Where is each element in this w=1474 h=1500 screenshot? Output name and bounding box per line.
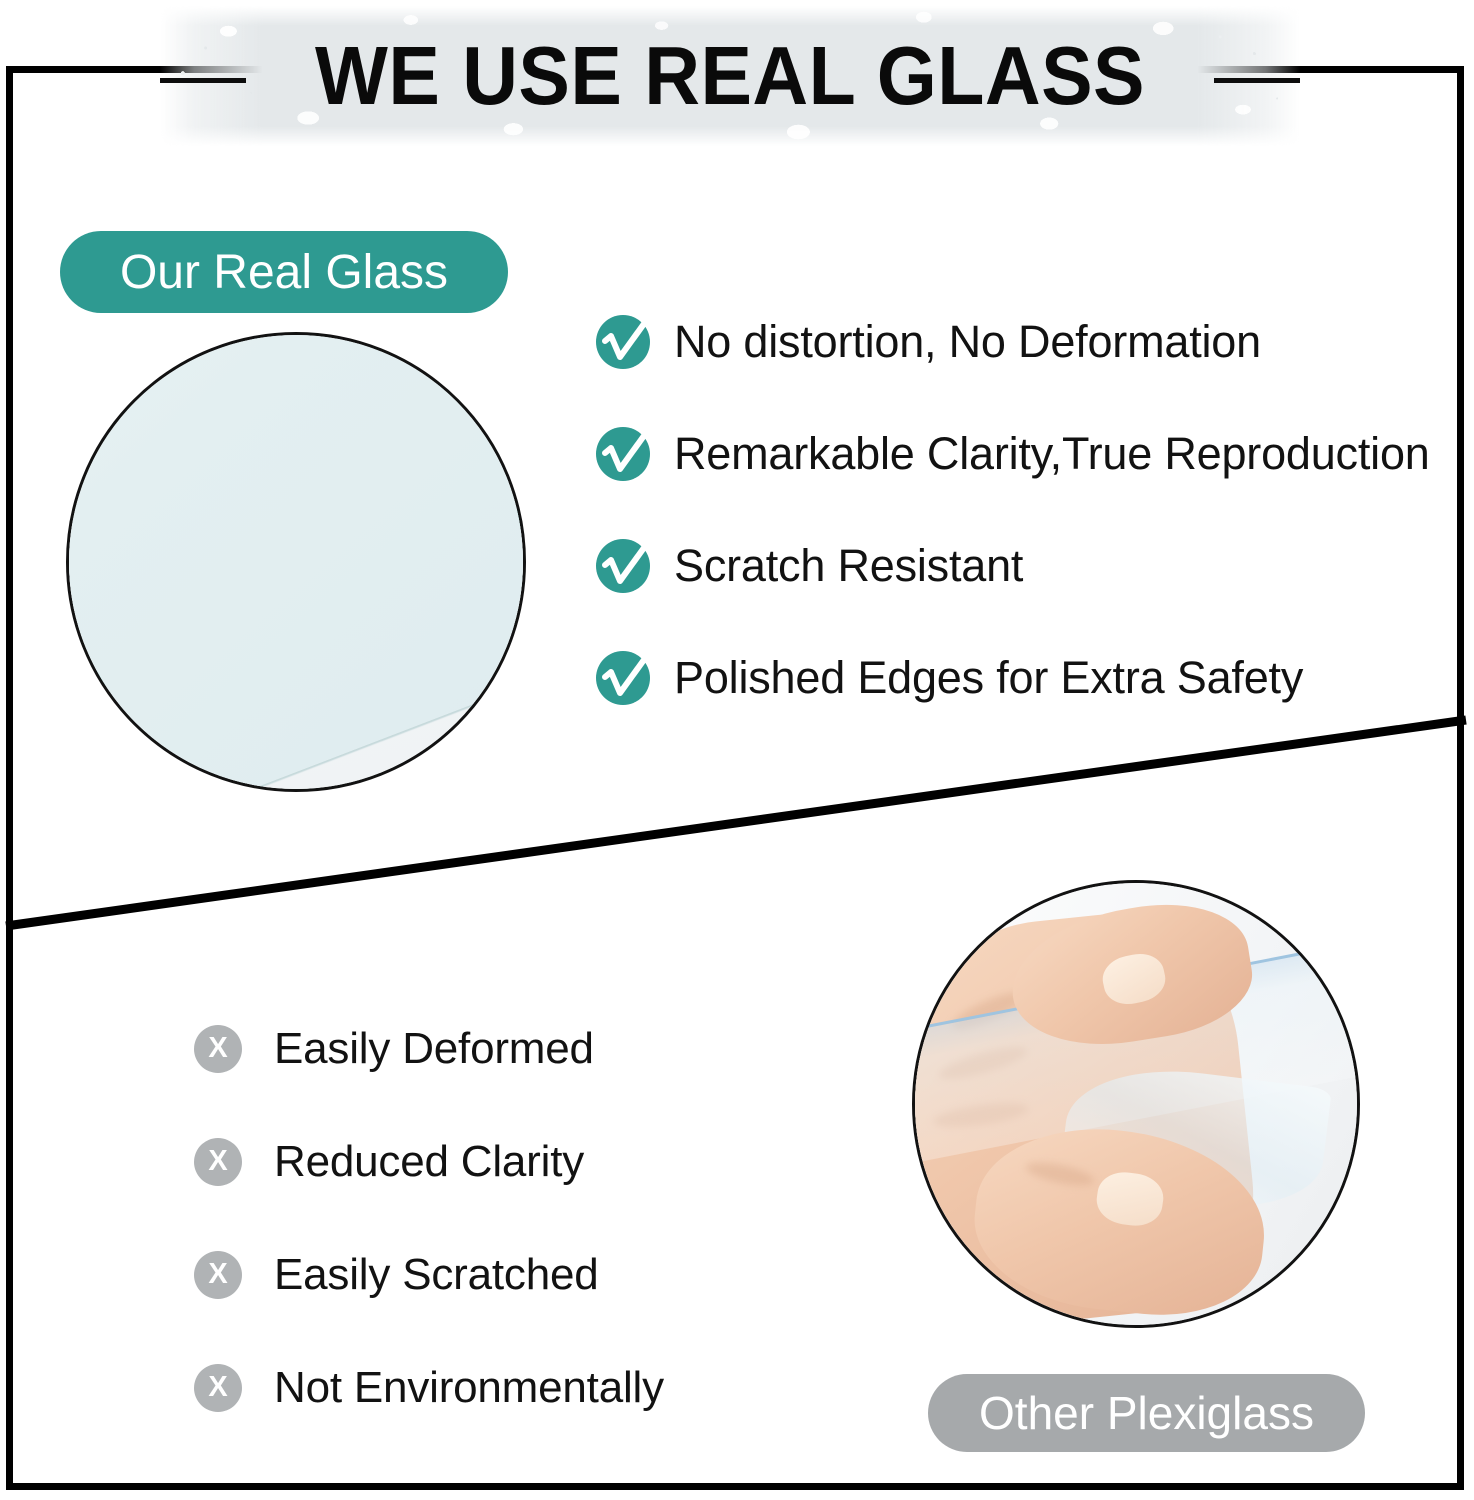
our-real-glass-badge: Our Real Glass bbox=[60, 231, 508, 313]
plexiglass-photo bbox=[912, 880, 1360, 1328]
pros-feature-label: No distortion, No Deformation bbox=[674, 316, 1261, 368]
cons-feature-item-3: X Easily Scratched bbox=[194, 1218, 834, 1331]
cons-feature-label: Not Environmentally bbox=[274, 1363, 664, 1413]
pros-feature-label: Polished Edges for Extra Safety bbox=[674, 652, 1303, 704]
check-circle-icon bbox=[596, 651, 650, 705]
cons-feature-list: X Easily Deformed X Reduced Clarity X Ea… bbox=[194, 992, 834, 1444]
other-plexiglass-badge-label: Other Plexiglass bbox=[979, 1386, 1314, 1440]
x-circle-icon: X bbox=[194, 1138, 242, 1186]
cons-feature-label: Easily Scratched bbox=[274, 1250, 599, 1300]
other-plexiglass-badge: Other Plexiglass bbox=[928, 1374, 1365, 1452]
pros-feature-label: Remarkable Clarity,True Reproduction bbox=[674, 428, 1430, 480]
cons-feature-label: Easily Deformed bbox=[274, 1024, 594, 1074]
pros-feature-item-2: Remarkable Clarity,True Reproduction bbox=[596, 398, 1456, 510]
cons-feature-item-1: X Easily Deformed bbox=[194, 992, 834, 1105]
x-icon-glyph: X bbox=[208, 1260, 227, 1289]
check-circle-icon bbox=[596, 427, 650, 481]
pros-feature-label: Scratch Resistant bbox=[674, 540, 1023, 592]
pros-feature-item-4: Polished Edges for Extra Safety bbox=[596, 622, 1456, 734]
pros-feature-list: No distortion, No Deformation Remarkable… bbox=[596, 286, 1456, 734]
check-circle-icon bbox=[596, 539, 650, 593]
x-circle-icon: X bbox=[194, 1251, 242, 1299]
page-title-wrapper: WE USE REAL GLASS bbox=[160, 6, 1300, 146]
x-icon-glyph: X bbox=[208, 1373, 227, 1402]
x-icon-glyph: X bbox=[208, 1034, 227, 1063]
poster-root: Our Real Glass No distortion, No Deforma… bbox=[0, 0, 1474, 1500]
x-circle-icon: X bbox=[194, 1364, 242, 1412]
real-glass-photo bbox=[66, 332, 526, 792]
pros-feature-item-1: No distortion, No Deformation bbox=[596, 286, 1456, 398]
cons-feature-item-4: X Not Environmentally bbox=[194, 1331, 834, 1444]
check-circle-icon bbox=[596, 315, 650, 369]
x-circle-icon: X bbox=[194, 1025, 242, 1073]
x-icon-glyph: X bbox=[208, 1147, 227, 1176]
pros-feature-item-3: Scratch Resistant bbox=[596, 510, 1456, 622]
our-real-glass-badge-label: Our Real Glass bbox=[120, 245, 448, 300]
page-title: WE USE REAL GLASS bbox=[200, 6, 1260, 146]
cons-feature-label: Reduced Clarity bbox=[274, 1137, 584, 1187]
cons-feature-item-2: X Reduced Clarity bbox=[194, 1105, 834, 1218]
